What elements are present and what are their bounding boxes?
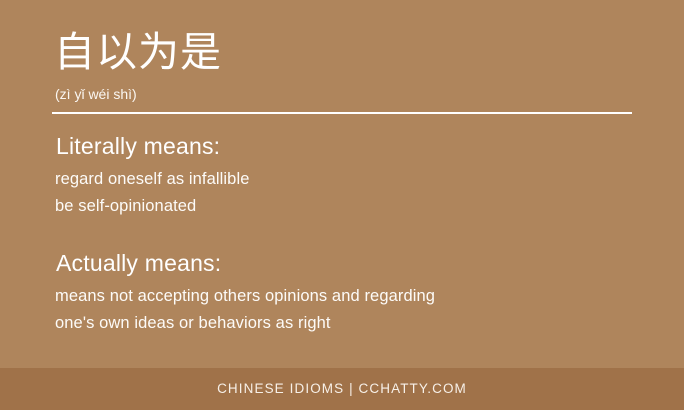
literal-meaning-line: regard oneself as infallible bbox=[55, 166, 684, 193]
actual-meaning-lines: means not accepting others opinions and … bbox=[0, 283, 684, 337]
actual-meaning-line: means not accepting others opinions and … bbox=[55, 283, 684, 310]
footer-bar: CHINESE IDIOMS | CCHATTY.COM bbox=[0, 368, 684, 410]
actual-meaning-line: one's own ideas or behaviors as right bbox=[55, 310, 684, 337]
literal-meaning-lines: regard oneself as infallible be self-opi… bbox=[0, 166, 684, 220]
card-content: 自以为是 (zì yǐ wéi shì) Literally means: re… bbox=[0, 0, 684, 368]
section-actual-meaning: Actually means: means not accepting othe… bbox=[0, 249, 684, 337]
literal-meaning-line: be self-opinionated bbox=[55, 193, 684, 220]
literal-meaning-heading: Literally means: bbox=[56, 132, 684, 160]
section-literal-meaning: Literally means: regard oneself as infal… bbox=[0, 132, 684, 220]
actual-meaning-heading: Actually means: bbox=[56, 249, 684, 277]
idiom-characters: 自以为是 bbox=[54, 26, 222, 78]
header-divider bbox=[52, 112, 632, 114]
idiom-pinyin: (zì yǐ wéi shì) bbox=[55, 86, 137, 103]
idiom-card: 自以为是 (zì yǐ wéi shì) Literally means: re… bbox=[0, 0, 684, 410]
footer-branding-text: CHINESE IDIOMS | CCHATTY.COM bbox=[217, 381, 467, 397]
